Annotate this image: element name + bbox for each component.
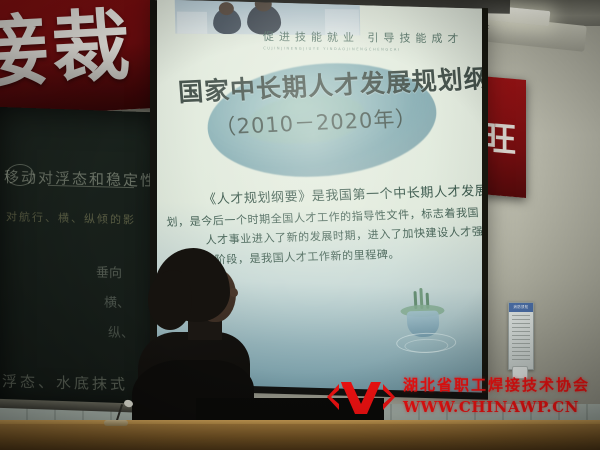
screen-right-edge (482, 8, 488, 394)
chalk-line-1: 移动对浮态和稳定性 (4, 166, 157, 191)
notice-text-lines (512, 315, 530, 363)
speaker-nose (230, 288, 238, 297)
chalk-line-4: 横、 (104, 292, 130, 312)
chalk-line-3: 垂向 (96, 262, 122, 282)
banner-shadow (0, 0, 162, 116)
red-banner-left: 接裁 (0, 0, 162, 116)
watermark: 湖北省职工焊接技术协会 WWW.CHINAWP.CN (325, 374, 597, 426)
chalk-line-5: 纵、 (108, 322, 134, 342)
chalk-line-2: 对航行、横、纵倾的影 (6, 208, 136, 227)
chinawp-w-logo-icon (325, 376, 397, 418)
notice-title: 消防须知 (509, 303, 533, 312)
notice-header-band: 消防须知 (509, 303, 533, 312)
desk-front-panel (0, 424, 600, 450)
speaker-hair-back (148, 270, 192, 330)
watermark-text: 湖北省职工焊接技术协会 WWW.CHINAWP.CN (403, 374, 599, 416)
microphone-base (104, 420, 128, 426)
photo-scene: Panasonic 接裁 旺 移动对浮态和稳定性 对航行、横、纵倾的影 垂向 横… (0, 0, 600, 450)
watermark-url: WWW.CHINAWP.CN (403, 398, 599, 416)
wall-notice-poster: 消防须知 (508, 302, 534, 370)
watermark-org-name: 湖北省职工焊接技术协会 (403, 374, 599, 395)
chalk-line-6: 浮态、水底抹式 (2, 370, 128, 394)
